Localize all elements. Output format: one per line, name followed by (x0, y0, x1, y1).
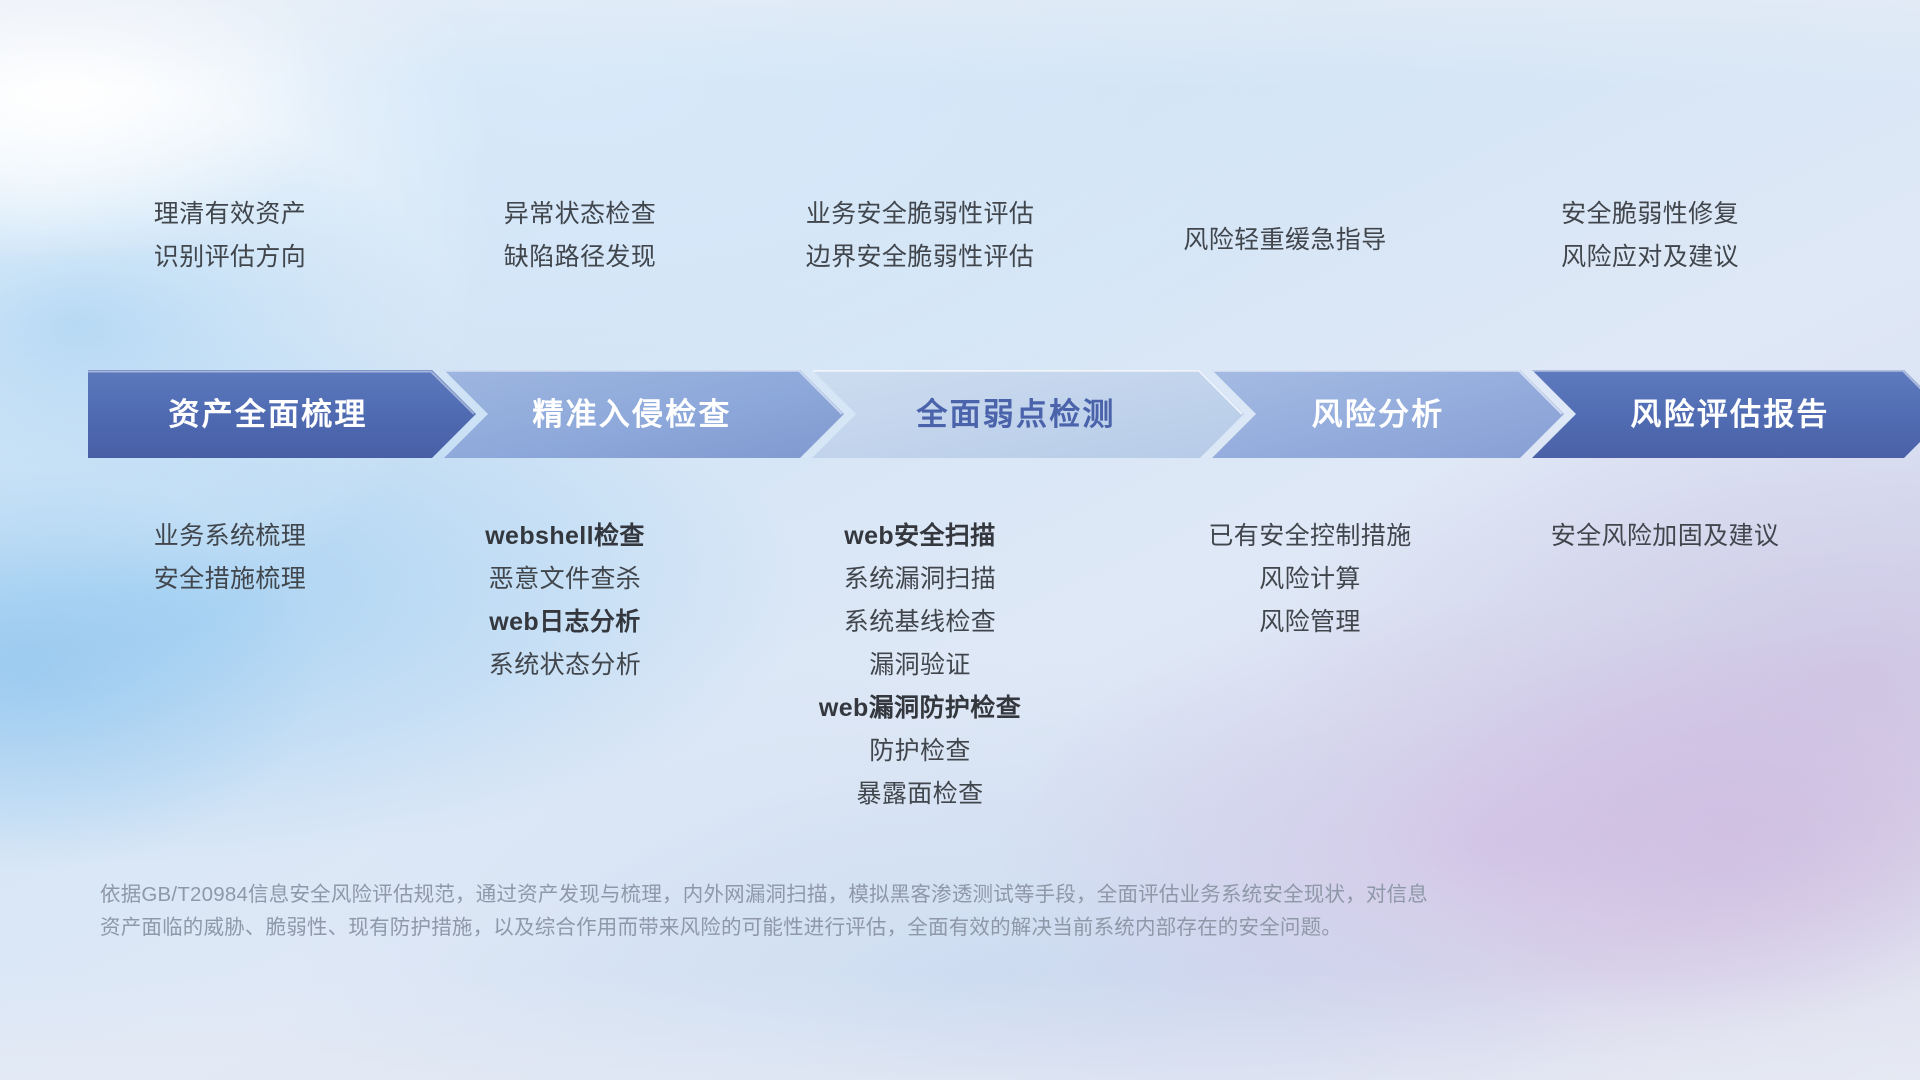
stage-top-items-risk-report: 安全脆弱性修复 风险应对及建议 (1440, 193, 1860, 279)
process-diagram: 理清有效资产 识别评估方向 异常状态检查 缺陷路径发现 业务安全脆弱性评估 边界… (0, 0, 1920, 1080)
bottom-item: 暴露面检查 (710, 773, 1130, 816)
stage-chevron-intrusion-check[interactable]: 精准入侵检查 (444, 370, 844, 458)
bottom-item: 风险管理 (1100, 601, 1520, 644)
bottom-item: web安全扫描 (710, 515, 1130, 558)
top-item: 风险应对及建议 (1440, 236, 1860, 279)
stage-chevron-label: 全面弱点检测 (916, 399, 1115, 430)
stage-chevron-label: 资产全面梳理 (168, 399, 367, 430)
stage-chevron-label: 风险分析 (1312, 399, 1445, 430)
stage-bottom-items-weakness-detection: web安全扫描 系统漏洞扫描 系统基线检查 漏洞验证 web漏洞防护检查 防护检… (710, 515, 1130, 816)
top-item: 安全脆弱性修复 (1440, 193, 1860, 236)
bottom-item: web漏洞防护检查 (710, 687, 1130, 730)
bottom-item: 漏洞验证 (710, 644, 1130, 687)
stage-chevron-band: 资产全面梳理 精准入侵检查 (88, 370, 1848, 458)
stage-top-items-risk-analysis: 风险轻重缓急指导 (1075, 219, 1495, 262)
bottom-item: 安全风险加固及建议 (1455, 515, 1875, 558)
diagram-footnote: 依据GB/T20984信息安全风险评估规范，通过资产发现与梳理，内外网漏洞扫描，… (100, 878, 1800, 944)
footnote-line: 资产面临的威胁、脆弱性、现有防护措施，以及综合作用而带来风险的可能性进行评估，全… (100, 911, 1800, 944)
bottom-item: 风险计算 (1100, 558, 1520, 601)
top-item: 风险轻重缓急指导 (1075, 219, 1495, 262)
stage-bottom-items-risk-report: 安全风险加固及建议 (1455, 515, 1875, 558)
bottom-item: 系统基线检查 (710, 601, 1130, 644)
stage-chevron-risk-report[interactable]: 风险评估报告 (1532, 370, 1920, 458)
bottom-item: 防护检查 (710, 730, 1130, 773)
stage-chevron-label: 精准入侵检查 (532, 399, 731, 430)
stage-chevron-asset-inventory[interactable]: 资产全面梳理 (88, 370, 476, 458)
stage-chevron-risk-analysis[interactable]: 风险分析 (1212, 370, 1564, 458)
stage-chevron-label: 风险评估报告 (1630, 399, 1829, 430)
stage-chevron-weakness-detection[interactable]: 全面弱点检测 (812, 370, 1244, 458)
bottom-item: 系统漏洞扫描 (710, 558, 1130, 601)
footnote-line: 依据GB/T20984信息安全风险评估规范，通过资产发现与梳理，内外网漏洞扫描，… (100, 878, 1800, 911)
